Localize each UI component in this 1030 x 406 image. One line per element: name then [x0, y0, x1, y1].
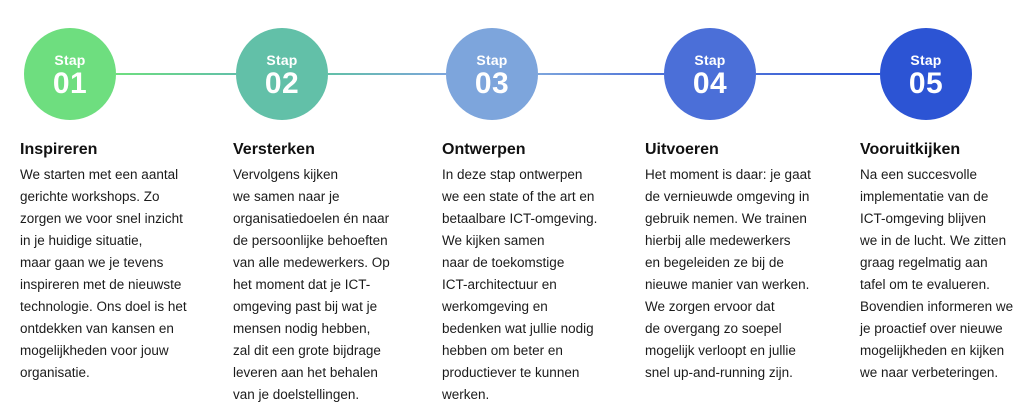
step-circle-02[interactable]: Stap02 [236, 28, 328, 120]
step-circle-01[interactable]: Stap01 [24, 28, 116, 120]
step-circle-05[interactable]: Stap05 [880, 28, 972, 120]
step-circle-03[interactable]: Stap03 [446, 28, 538, 120]
step-number: 04 [693, 69, 727, 99]
step-number: 03 [475, 69, 509, 99]
step-column-02: VersterkenVervolgens kijken we samen naa… [233, 140, 413, 406]
step-title: Versterken [233, 140, 413, 159]
step-word-label: Stap [54, 53, 85, 67]
step-title: Ontwerpen [442, 140, 622, 159]
step-description: In deze stap ontwerpen we een state of t… [442, 164, 622, 406]
step-title: Inspireren [20, 140, 198, 159]
step-circles-row: Stap01Stap02Stap03Stap04Stap05 [0, 0, 1030, 130]
step-description: Vervolgens kijken we samen naar je organ… [233, 164, 413, 406]
step-word-label: Stap [694, 53, 725, 67]
step-title: Uitvoeren [645, 140, 830, 159]
step-description: Het moment is daar: je gaat de vernieuwd… [645, 164, 830, 384]
step-column-04: UitvoerenHet moment is daar: je gaat de … [645, 140, 830, 384]
step-description: We starten met een aantal gerichte works… [20, 164, 198, 384]
step-column-01: InspirerenWe starten met een aantal geri… [20, 140, 198, 384]
step-column-05: VooruitkijkenNa een succesvolle implemen… [860, 140, 1020, 384]
step-number: 05 [909, 69, 943, 99]
step-column-03: OntwerpenIn deze stap ontwerpen we een s… [442, 140, 622, 406]
step-number: 01 [53, 69, 87, 99]
step-word-label: Stap [266, 53, 297, 67]
step-roadmap-diagram: Stap01Stap02Stap03Stap04Stap05 Inspirere… [0, 0, 1030, 402]
step-circle-04[interactable]: Stap04 [664, 28, 756, 120]
step-number: 02 [265, 69, 299, 99]
step-description: Na een succesvolle implementatie van de … [860, 164, 1020, 384]
step-word-label: Stap [476, 53, 507, 67]
step-word-label: Stap [910, 53, 941, 67]
step-title: Vooruitkijken [860, 140, 1020, 159]
